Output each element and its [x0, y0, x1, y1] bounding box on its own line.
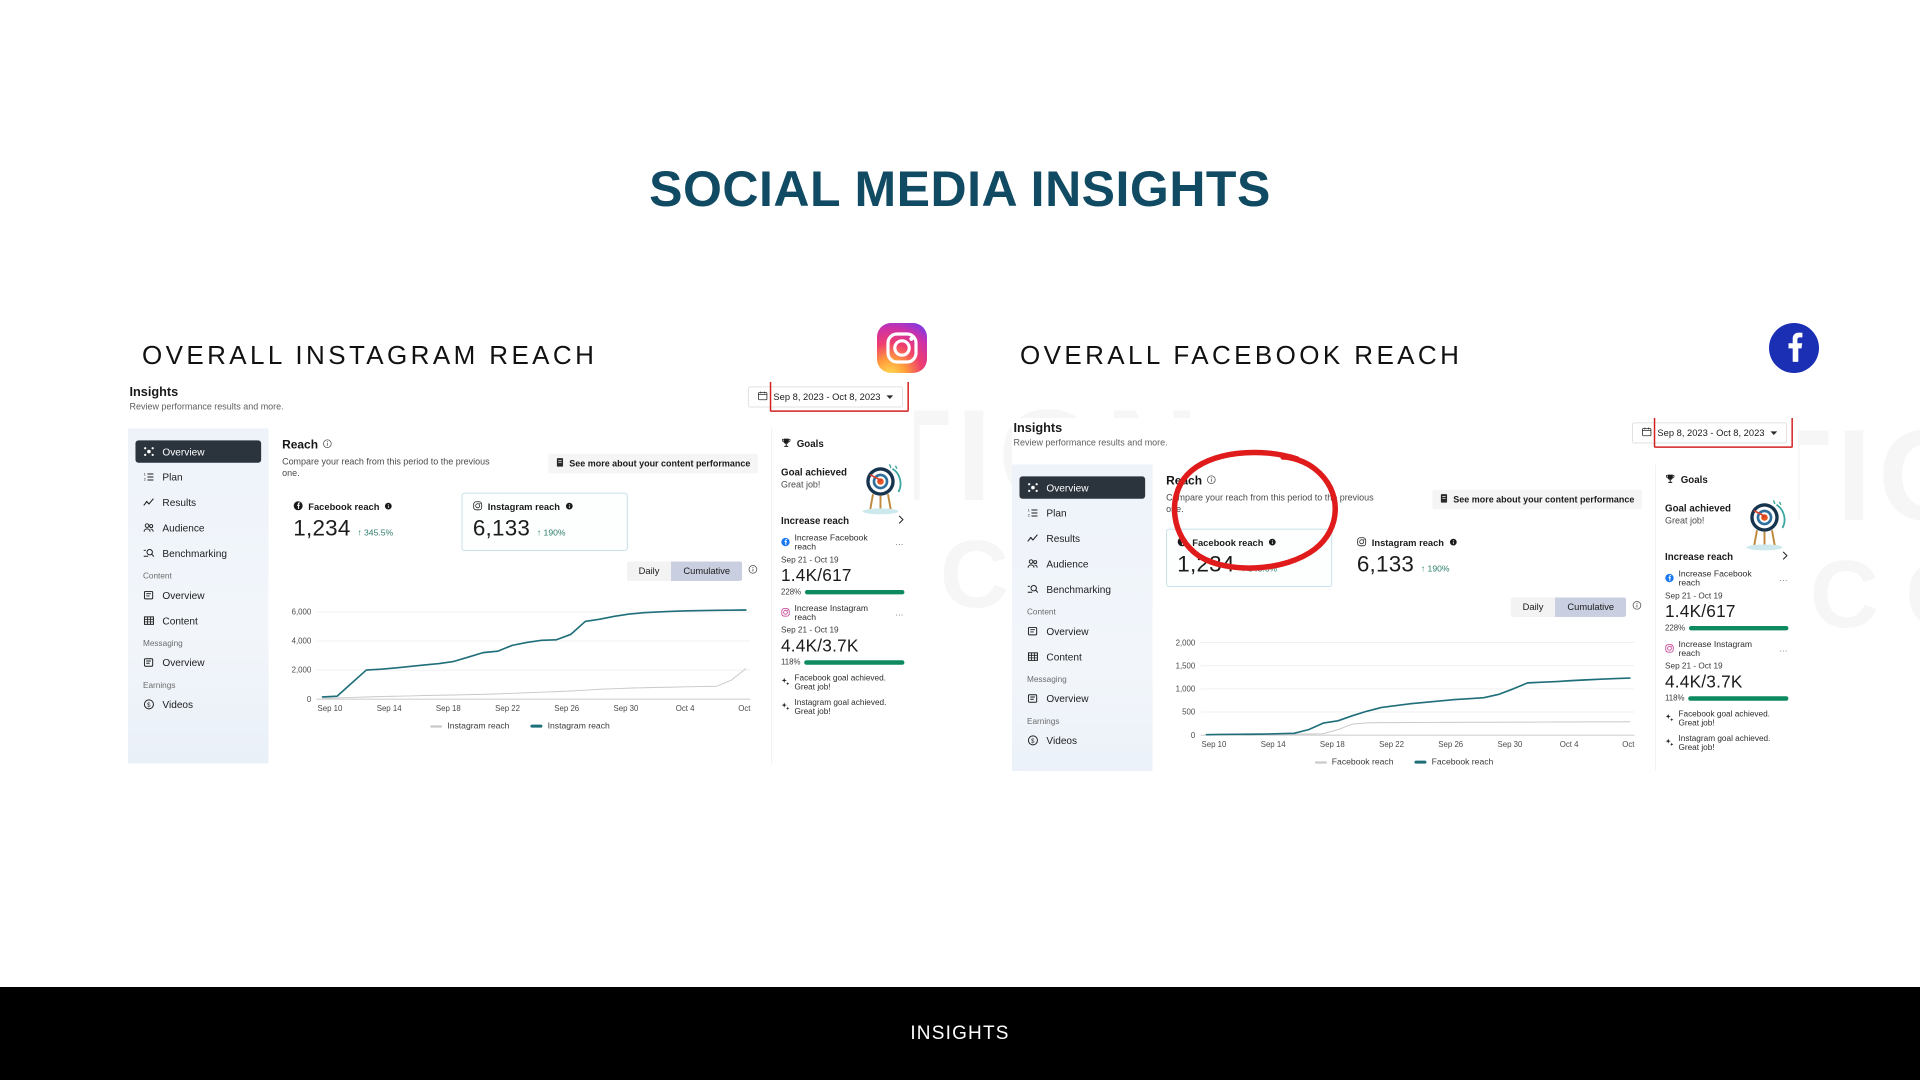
- svg-text:2: 2: [1028, 514, 1030, 518]
- overview-icon: [1027, 482, 1039, 494]
- goal-row-instagram: Increase Instagram reach … Sep 21 - Oct …: [781, 604, 904, 667]
- sidebar-item-label: Videos: [162, 699, 193, 710]
- legend-label: Instagram reach: [548, 722, 610, 731]
- sidebar-item-label: Benchmarking: [162, 548, 227, 559]
- app-header: Insights Review performance results and …: [128, 382, 913, 428]
- reach-heading: Reach: [1166, 475, 1642, 488]
- reach-heading: Reach: [282, 439, 758, 452]
- svg-text:Sep 10: Sep 10: [318, 704, 343, 713]
- page-title: SOCIAL MEDIA INSIGHTS: [0, 160, 1920, 218]
- goal-note-instagram: Instagram goal achieved. Great job!: [1665, 734, 1788, 752]
- sidebar-item-plan[interactable]: 12 Plan: [135, 466, 261, 488]
- metric-delta-arrow: ↑: [1421, 565, 1425, 574]
- metric-label: Instagram reach: [488, 502, 560, 512]
- chevron-down-icon: [1770, 428, 1777, 438]
- sidebar-item-content-overview[interactable]: Overview: [135, 584, 261, 606]
- metric-label-row: Instagram reach: [1357, 537, 1501, 549]
- sidebar-item-content[interactable]: Content: [1019, 645, 1145, 667]
- chart-legend: Instagram reach Instagram reach: [282, 722, 758, 731]
- svg-text:1: 1: [144, 473, 146, 477]
- sidebar-group-earnings: Earnings: [1027, 717, 1153, 726]
- goal-row-dates: Sep 21 - Oct 19: [781, 626, 904, 635]
- legend-swatch-previous: [1315, 761, 1327, 763]
- sidebar-item-label: Overview: [1046, 693, 1088, 704]
- metric-value-row: 6,133 ↑ 190%: [1357, 552, 1501, 577]
- goal-row-dates: Sep 21 - Oct 19: [1665, 592, 1788, 601]
- goal-row-label: Increase Facebook reach: [794, 534, 890, 552]
- svg-text:1,500: 1,500: [1176, 662, 1196, 671]
- facebook-icon: [293, 501, 303, 513]
- goal-row-value: 1.4K/617: [1665, 601, 1788, 621]
- reach-panel: Reach Compare your reach from this perio…: [269, 428, 772, 763]
- sidebar-item-label: Benchmarking: [1046, 584, 1111, 595]
- svg-text:Sep 26: Sep 26: [554, 704, 579, 713]
- sparkle-icon: [781, 677, 790, 688]
- sidebar-group-content: Content: [1027, 608, 1153, 617]
- sidebar-item-label: Videos: [1046, 735, 1077, 746]
- sparkle-icon: [1665, 738, 1674, 749]
- svg-text:Sep 26: Sep 26: [1438, 740, 1463, 749]
- see-more-label: See more about your content performance: [569, 458, 750, 468]
- svg-text:2,000: 2,000: [1176, 639, 1196, 648]
- sidebar-item-label: Plan: [162, 471, 182, 482]
- goal-note-text: Instagram goal achieved. Great job!: [794, 698, 904, 716]
- metric-delta: ↑ 345.5%: [357, 529, 393, 538]
- sidebar-item-videos[interactable]: $ Videos: [135, 693, 261, 715]
- svg-text:1,000: 1,000: [1176, 685, 1196, 694]
- svg-text:Sep 30: Sep 30: [614, 704, 639, 713]
- sidebar-group-content: Content: [143, 572, 269, 581]
- info-icon[interactable]: [1269, 538, 1276, 548]
- goal-row-menu-button[interactable]: …: [895, 538, 904, 547]
- metric-label: Instagram reach: [1372, 538, 1444, 548]
- section-header-instagram: OVERALL INSTAGRAM REACH: [142, 340, 597, 371]
- goal-row-percent: 228%: [781, 588, 801, 597]
- audience-people-icon: [1027, 558, 1039, 570]
- content-overview-icon: [143, 589, 155, 601]
- metric-value-row: 1,234 ↑ 345.5%: [293, 516, 437, 541]
- instagram-logo-icon: [876, 322, 928, 374]
- benchmarking-search-icon: [1027, 583, 1039, 595]
- instagram-icon: [781, 608, 790, 619]
- goal-note-text: Instagram goal achieved. Great job!: [1678, 734, 1788, 752]
- metric-delta: ↑ 190%: [537, 529, 566, 538]
- app-header: Insights Review performance results and …: [1012, 418, 1797, 464]
- sidebar-item-label: Audience: [1046, 558, 1088, 569]
- facebook-logo-icon: [1768, 322, 1820, 374]
- goal-row-percent: 118%: [1665, 694, 1685, 703]
- app-title: Insights: [129, 385, 178, 400]
- facebook-reach-chart: 05001,0001,5002,000Sep 10Sep 14Sep 18Sep…: [1166, 628, 1642, 755]
- reach-metrics: Facebook reach 1,234 ↑ 345.5%: [282, 493, 758, 551]
- metric-delta-value: 190%: [544, 529, 566, 538]
- reach-title-label: Reach: [1166, 475, 1202, 488]
- goal-progress-bar: [1688, 696, 1788, 700]
- metric-value: 6,133: [1357, 552, 1414, 577]
- audience-people-icon: [143, 522, 155, 534]
- svg-text:0: 0: [307, 695, 312, 704]
- goal-row-progress: 228%: [1665, 624, 1788, 633]
- metric-delta: ↑ 190%: [1421, 565, 1450, 574]
- date-range-label: Sep 8, 2023 - Oct 8, 2023: [1657, 428, 1764, 438]
- legend-label: Instagram reach: [447, 722, 509, 731]
- reach-metrics: Facebook reach 1,234 ↑ 345.5%: [1166, 529, 1642, 587]
- goal-note-instagram: Instagram goal achieved. Great job!: [781, 698, 904, 716]
- metric-value: 1,234: [293, 516, 350, 541]
- toggle-cumulative[interactable]: Cumulative: [1555, 598, 1626, 617]
- metric-value-row: 6,133 ↑ 190%: [473, 516, 617, 541]
- info-icon[interactable]: [323, 439, 333, 452]
- metric-facebook-reach[interactable]: Facebook reach 1,234 ↑ 345.5%: [1166, 529, 1332, 587]
- svg-text:Sep 14: Sep 14: [1261, 740, 1286, 749]
- content-overview-icon: [1027, 625, 1039, 637]
- legend-swatch-current: [530, 725, 542, 728]
- goal-row-facebook: Increase Facebook reach … Sep 21 - Oct 1…: [781, 534, 904, 597]
- benchmarking-search-icon: [143, 547, 155, 559]
- app-title: Insights: [1013, 421, 1062, 436]
- metric-delta-arrow: ↑: [1241, 565, 1245, 574]
- svg-text:Sep 18: Sep 18: [436, 704, 461, 713]
- metric-instagram-reach[interactable]: Instagram reach 6,133 ↑ 190%: [1346, 529, 1512, 587]
- target-dartboard-illustration: [848, 458, 909, 518]
- legend-item-previous: Instagram reach: [430, 722, 509, 731]
- goal-row-label: Increase Facebook reach: [1678, 570, 1774, 588]
- goals-header: Goals: [781, 437, 904, 450]
- content-grid-icon: [1027, 651, 1039, 663]
- goal-row-head: Increase Facebook reach …: [781, 534, 904, 552]
- sidebar-item-label: Overview: [162, 446, 204, 457]
- sparkle-icon: [781, 702, 790, 713]
- footer-label: INSIGHTS: [910, 1023, 1009, 1045]
- metric-delta-value: 345.5%: [1248, 565, 1277, 574]
- metric-value: 1,234: [1177, 552, 1234, 577]
- svg-text:Sep 22: Sep 22: [495, 704, 520, 713]
- sidebar-item-messaging-overview[interactable]: Overview: [1019, 687, 1145, 709]
- chart-mode-toggle-row: Daily Cumulative: [1166, 598, 1642, 617]
- goal-row-value: 4.4K/3.7K: [1665, 672, 1788, 692]
- results-chart-icon: [1027, 532, 1039, 544]
- instagram-reach-chart: 02,0004,0006,000Sep 10Sep 14Sep 18Sep 22…: [282, 592, 758, 719]
- goal-row-dates: Sep 21 - Oct 19: [1665, 662, 1788, 671]
- metric-value-row: 1,234 ↑ 345.5%: [1177, 552, 1321, 577]
- svg-text:Oct 4: Oct 4: [676, 704, 695, 713]
- plan-list-icon: 12: [143, 471, 155, 483]
- see-more-content-performance-link[interactable]: See more about your content performance: [548, 454, 757, 473]
- app-subtitle: Review performance results and more.: [1013, 437, 1167, 447]
- sidebar-item-label: Overview: [1046, 482, 1088, 493]
- goal-row-value: 4.4K/3.7K: [781, 636, 904, 656]
- goal-row-progress: 118%: [1665, 694, 1788, 703]
- svg-text:Sep 18: Sep 18: [1320, 740, 1345, 749]
- info-icon[interactable]: [565, 502, 572, 512]
- sidebar-group-earnings: Earnings: [143, 681, 269, 690]
- metric-delta-value: 345.5%: [364, 529, 393, 538]
- goal-row-menu-button[interactable]: …: [1779, 645, 1788, 654]
- info-icon[interactable]: [1632, 601, 1642, 614]
- facebook-icon: [1177, 537, 1187, 549]
- earnings-dollar-icon: $: [1027, 734, 1039, 746]
- section-header-facebook: OVERALL FACEBOOK REACH: [1020, 340, 1462, 371]
- sparkle-icon: [1665, 713, 1674, 724]
- app-subtitle: Review performance results and more.: [129, 401, 283, 411]
- goal-row-progress: 228%: [781, 588, 904, 597]
- svg-text:Oct: Oct: [1622, 740, 1635, 749]
- goal-note-text: Facebook goal achieved. Great job!: [794, 674, 904, 692]
- metric-delta-arrow: ↑: [357, 529, 361, 538]
- sidebar-item-benchmarking[interactable]: Benchmarking: [135, 542, 261, 564]
- svg-text:$: $: [147, 703, 151, 709]
- svg-text:4,000: 4,000: [292, 637, 312, 646]
- metric-facebook-reach[interactable]: Facebook reach 1,234 ↑ 345.5%: [282, 493, 448, 551]
- metric-label-row: Facebook reach: [293, 501, 437, 513]
- legend-swatch-previous: [430, 725, 442, 727]
- svg-text:6,000: 6,000: [292, 608, 312, 617]
- goal-row-dates: Sep 21 - Oct 19: [781, 556, 904, 565]
- metric-value: 6,133: [473, 516, 530, 541]
- messaging-overview-icon: [143, 657, 155, 669]
- metric-delta-value: 190%: [1428, 565, 1450, 574]
- increase-reach-label: Increase reach: [781, 515, 849, 526]
- trophy-icon: [781, 437, 791, 450]
- svg-text:2: 2: [144, 478, 146, 482]
- footer-bar: INSIGHTS: [0, 987, 1920, 1080]
- info-icon[interactable]: [385, 502, 392, 512]
- goal-row-label: Increase Instagram reach: [1678, 640, 1774, 658]
- calendar-icon: [758, 391, 768, 403]
- info-icon[interactable]: [1207, 475, 1217, 488]
- svg-text:500: 500: [1182, 708, 1196, 717]
- goal-row-value: 1.4K/617: [781, 565, 904, 585]
- increase-reach-label: Increase reach: [1665, 551, 1733, 562]
- sidebar-item-label: Results: [1046, 533, 1080, 544]
- instagram-insights-screenshot: Insights Review performance results and …: [128, 382, 914, 764]
- messaging-overview-icon: [1027, 693, 1039, 705]
- date-range-selector[interactable]: Sep 8, 2023 - Oct 8, 2023: [748, 386, 903, 407]
- goal-row-percent: 118%: [781, 658, 801, 667]
- sidebar-item-label: Overview: [1046, 626, 1088, 637]
- legend-item-current: Facebook reach: [1414, 758, 1493, 767]
- sidebar-item-content[interactable]: Content: [135, 609, 261, 631]
- svg-text:Oct 4: Oct 4: [1560, 740, 1579, 749]
- toggle-cumulative[interactable]: Cumulative: [671, 562, 742, 581]
- chart-legend: Facebook reach Facebook reach: [1166, 758, 1642, 767]
- sidebar-item-label: Audience: [162, 522, 204, 533]
- goal-row-head: Increase Instagram reach …: [1665, 640, 1788, 658]
- svg-text:2,000: 2,000: [292, 666, 312, 675]
- date-range-label: Sep 8, 2023 - Oct 8, 2023: [773, 392, 880, 402]
- legend-item-current: Instagram reach: [530, 722, 609, 731]
- goal-row-percent: 228%: [1665, 624, 1685, 633]
- sidebar-group-messaging: Messaging: [1027, 675, 1153, 684]
- reach-description: Compare your reach from this period to t…: [282, 455, 506, 479]
- target-dartboard-illustration: [1732, 494, 1793, 554]
- sidebar-item-label: Content: [1046, 651, 1081, 662]
- svg-text:Sep 22: Sep 22: [1379, 740, 1404, 749]
- sidebar-nav: Overview 12 Plan Results Audience Benchm…: [1012, 464, 1153, 771]
- goal-row-menu-button[interactable]: …: [1779, 574, 1788, 583]
- goal-row-head: Increase Instagram reach …: [781, 604, 904, 622]
- goals-header-label: Goals: [797, 438, 824, 449]
- metric-label-row: Facebook reach: [1177, 537, 1321, 549]
- svg-text:Sep 30: Sep 30: [1498, 740, 1523, 749]
- sidebar-item-messaging-overview[interactable]: Overview: [135, 651, 261, 673]
- reach-description: Compare your reach from this period to t…: [1166, 491, 1390, 515]
- plan-list-icon: 12: [1027, 507, 1039, 519]
- svg-text:Sep 10: Sep 10: [1202, 740, 1227, 749]
- toggle-daily[interactable]: Daily: [1511, 598, 1556, 617]
- goal-note-facebook: Facebook goal achieved. Great job!: [781, 674, 904, 692]
- goal-row-head: Increase Facebook reach …: [1665, 570, 1788, 588]
- goal-row-instagram: Increase Instagram reach … Sep 21 - Oct …: [1665, 640, 1788, 703]
- metric-instagram-reach[interactable]: Instagram reach 6,133 ↑ 190%: [462, 493, 628, 551]
- goal-progress-bar: [805, 590, 905, 594]
- legend-label: Facebook reach: [1332, 758, 1394, 767]
- sidebar-item-audience[interactable]: Audience: [135, 517, 261, 539]
- goals-panel: Goals Goal achieved Great job!: [1655, 464, 1797, 771]
- chart-mode-toggle[interactable]: Daily Cumulative: [627, 562, 742, 581]
- svg-text:Oct: Oct: [738, 704, 751, 713]
- goals-header: Goals: [1665, 473, 1788, 486]
- earnings-dollar-icon: $: [143, 698, 155, 710]
- info-icon[interactable]: [748, 565, 758, 578]
- trophy-icon: [1665, 473, 1675, 486]
- facebook-icon: [781, 537, 790, 548]
- sidebar-item-benchmarking[interactable]: Benchmarking: [1019, 578, 1145, 600]
- legend-item-previous: Facebook reach: [1315, 758, 1394, 767]
- sidebar-item-overview[interactable]: Overview: [1019, 476, 1145, 498]
- goal-row-label: Increase Instagram reach: [794, 604, 890, 622]
- info-icon[interactable]: [1449, 538, 1456, 548]
- chart-mode-toggle-row: Daily Cumulative: [282, 562, 758, 581]
- sidebar-nav: Overview 12 Plan Results Audience Benchm…: [128, 428, 269, 763]
- sidebar-item-results[interactable]: Results: [1019, 527, 1145, 549]
- sidebar-group-messaging: Messaging: [143, 639, 269, 648]
- goal-progress-bar: [804, 660, 904, 664]
- sidebar-item-label: Plan: [1046, 507, 1066, 518]
- sidebar-item-label: Overview: [162, 657, 204, 668]
- goal-progress-bar: [1689, 626, 1789, 630]
- sidebar-item-label: Content: [162, 615, 197, 626]
- toggle-daily[interactable]: Daily: [627, 562, 672, 581]
- goal-note-text: Facebook goal achieved. Great job!: [1678, 710, 1788, 728]
- metric-label-row: Instagram reach: [473, 501, 617, 513]
- legend-label: Facebook reach: [1432, 758, 1494, 767]
- facebook-icon: [1665, 573, 1674, 584]
- chart-mode-toggle[interactable]: Daily Cumulative: [1511, 598, 1626, 617]
- chevron-down-icon: [886, 392, 893, 402]
- metric-delta: ↑ 345.5%: [1241, 565, 1277, 574]
- sidebar-item-videos[interactable]: $ Videos: [1019, 729, 1145, 751]
- goal-row-progress: 118%: [781, 658, 904, 667]
- svg-text:0: 0: [1191, 731, 1196, 740]
- reach-title-label: Reach: [282, 439, 318, 452]
- goal-row-facebook: Increase Facebook reach … Sep 21 - Oct 1…: [1665, 570, 1788, 633]
- see-more-content-performance-link[interactable]: See more about your content performance: [1432, 490, 1641, 509]
- svg-text:$: $: [1031, 739, 1035, 745]
- results-chart-icon: [143, 496, 155, 508]
- goals-header-label: Goals: [1681, 474, 1708, 485]
- facebook-insights-screenshot: Insights Review performance results and …: [1012, 418, 1798, 771]
- metric-label: Facebook reach: [1192, 538, 1263, 548]
- metric-delta-arrow: ↑: [537, 529, 541, 538]
- instagram-icon: [1665, 644, 1674, 655]
- sidebar-item-audience[interactable]: Audience: [1019, 553, 1145, 575]
- overview-icon: [143, 446, 155, 458]
- sidebar-item-label: Overview: [162, 590, 204, 601]
- legend-swatch-current: [1414, 761, 1426, 764]
- see-more-label: See more about your content performance: [1453, 494, 1634, 504]
- goal-note-facebook: Facebook goal achieved. Great job!: [1665, 710, 1788, 728]
- svg-text:1: 1: [1028, 509, 1030, 513]
- reach-panel: Reach Compare your reach from this perio…: [1153, 464, 1656, 771]
- content-grid-icon: [143, 615, 155, 627]
- goal-row-menu-button[interactable]: …: [895, 609, 904, 618]
- sidebar-item-results[interactable]: Results: [135, 491, 261, 513]
- calendar-icon: [1642, 427, 1652, 439]
- sidebar-item-label: Results: [162, 497, 196, 508]
- document-icon: [1440, 494, 1448, 506]
- metric-label: Facebook reach: [308, 502, 379, 512]
- date-range-selector[interactable]: Sep 8, 2023 - Oct 8, 2023: [1632, 422, 1787, 443]
- goals-panel: Goals Goal achieved Great job!: [771, 428, 913, 763]
- instagram-icon: [473, 501, 483, 513]
- svg-text:Sep 14: Sep 14: [377, 704, 402, 713]
- sidebar-item-plan[interactable]: 12 Plan: [1019, 502, 1145, 524]
- sidebar-item-content-overview[interactable]: Overview: [1019, 620, 1145, 642]
- document-icon: [556, 458, 564, 470]
- instagram-icon: [1357, 537, 1367, 549]
- sidebar-item-overview[interactable]: Overview: [135, 440, 261, 462]
